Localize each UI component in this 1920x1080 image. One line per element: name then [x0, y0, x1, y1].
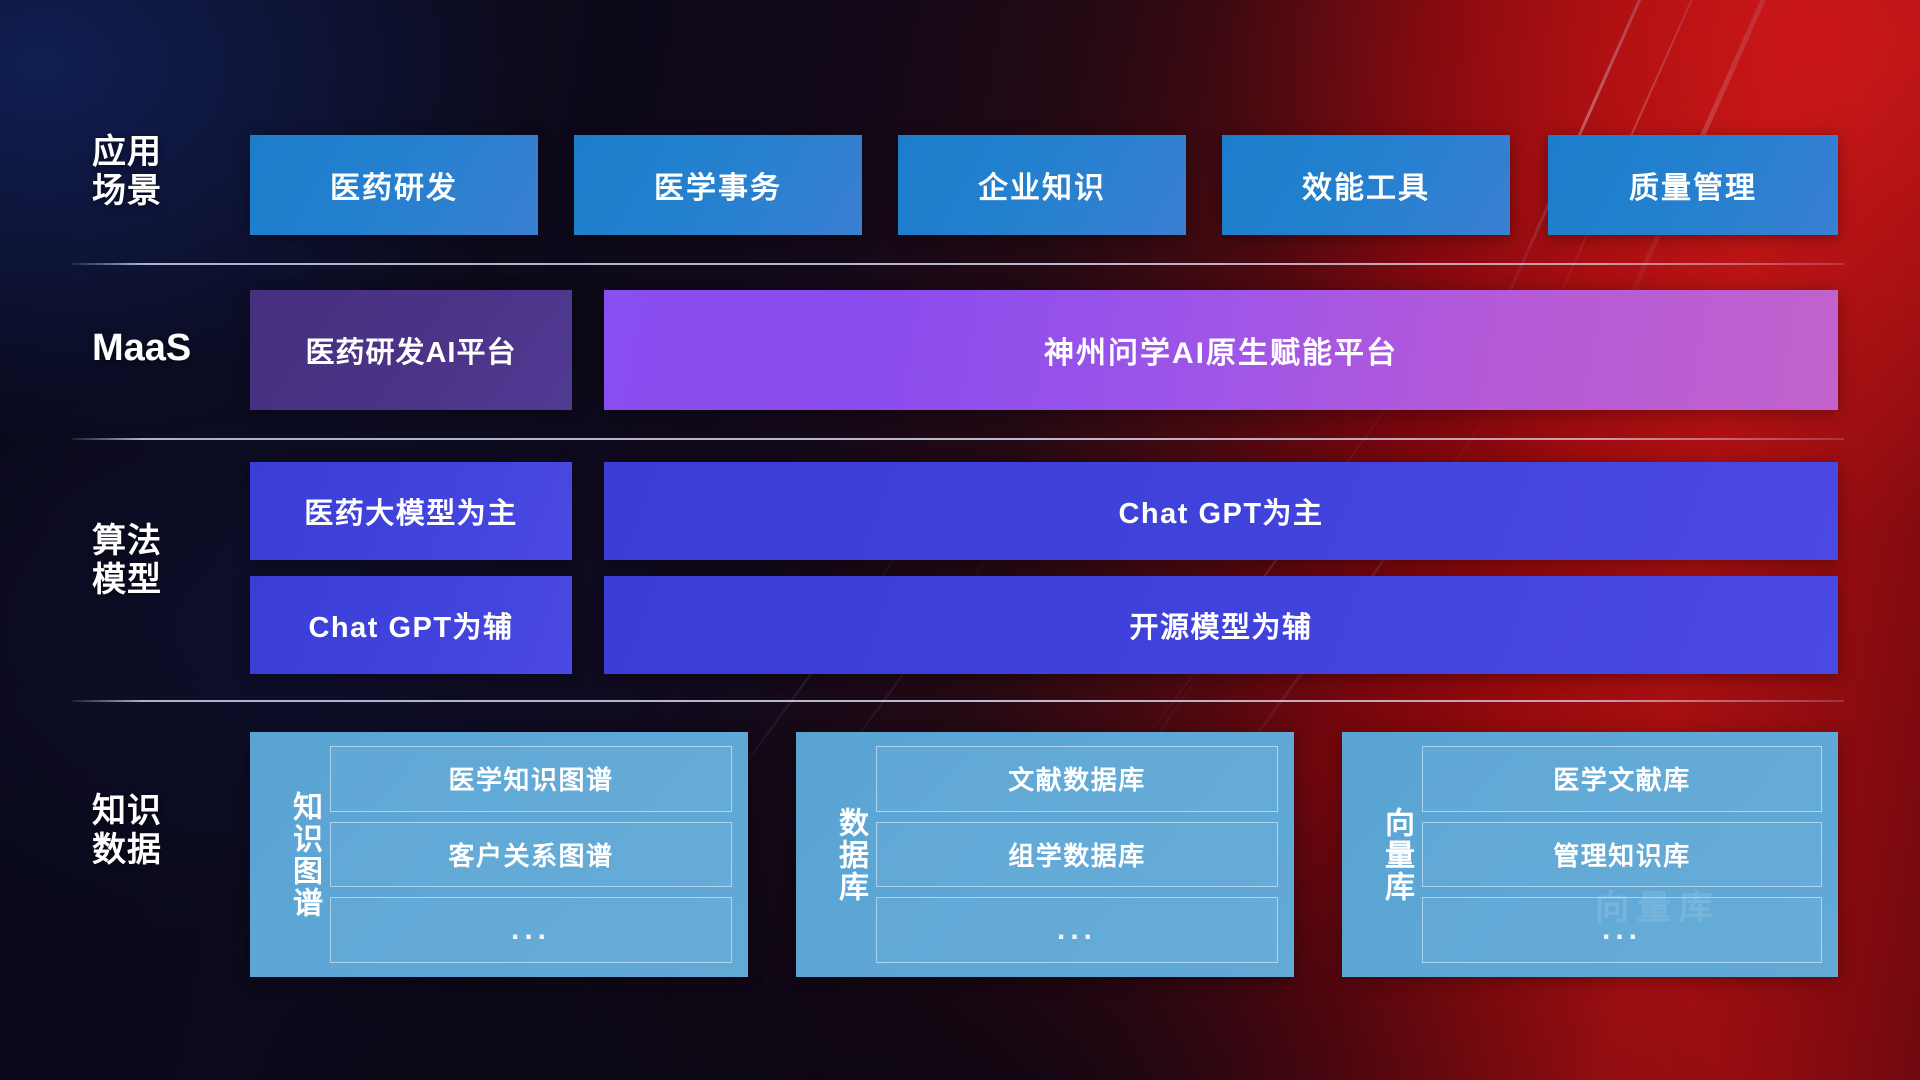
- divider-2: [72, 438, 1844, 440]
- knowledge-panel-vertical-label: 知识图谱: [268, 791, 320, 919]
- algo-box-medical-primary[interactable]: 医药大模型为主: [250, 462, 572, 560]
- maas-platform-label: 神州问学AI原生赋能平台: [1044, 328, 1398, 372]
- diagram-canvas: 应用 场景 医药研发 医学事务 企业知识 效能工具 质量管理 MaaS 医药研发…: [0, 0, 1920, 1080]
- knowledge-panel-item-list: 医学文献库 管理知识库 ...: [1422, 746, 1822, 963]
- maas-platform-label: 医药研发AI平台: [305, 329, 516, 371]
- knowledge-item-more[interactable]: ...: [330, 897, 732, 963]
- row-label-line: 模型: [92, 561, 252, 600]
- row-label-line: MaaS: [92, 326, 252, 370]
- maas-platform-box-shenzhou[interactable]: 神州问学AI原生赋能平台: [604, 290, 1838, 410]
- app-scenario-box-3[interactable]: 企业知识: [898, 135, 1186, 235]
- knowledge-item[interactable]: 客户关系图谱: [330, 822, 732, 888]
- divider-1: [72, 263, 1844, 265]
- knowledge-item-more[interactable]: ...: [1422, 897, 1822, 963]
- app-scenario-box-4[interactable]: 效能工具: [1222, 135, 1510, 235]
- algo-box-label: Chat GPT为主: [1118, 490, 1323, 532]
- app-scenario-label: 医药研发: [330, 163, 458, 207]
- algo-box-chatgpt-primary[interactable]: Chat GPT为主: [604, 462, 1838, 560]
- knowledge-item[interactable]: 管理知识库: [1422, 822, 1822, 888]
- knowledge-item-more[interactable]: ...: [876, 897, 1278, 963]
- app-scenario-label: 效能工具: [1302, 163, 1430, 207]
- row-label-algorithm-models: 算法 模型: [92, 522, 252, 601]
- knowledge-panel-knowledge-graph[interactable]: 知识图谱 医学知识图谱 客户关系图谱 ...: [250, 732, 748, 977]
- app-scenario-label: 质量管理: [1629, 163, 1757, 207]
- knowledge-panel-item-list: 医学知识图谱 客户关系图谱 ...: [330, 746, 732, 963]
- knowledge-panel-item-list: 文献数据库 组学数据库 ...: [876, 746, 1278, 963]
- knowledge-item[interactable]: 组学数据库: [876, 822, 1278, 888]
- knowledge-panel-database[interactable]: 数据库 文献数据库 组学数据库 ...: [796, 732, 1294, 977]
- divider-3: [72, 700, 1844, 702]
- knowledge-panel-vector-store[interactable]: 向量库 医学文献库 管理知识库 ...: [1342, 732, 1838, 977]
- algo-box-label: 开源模型为辅: [1129, 604, 1312, 646]
- app-scenario-label: 医学事务: [654, 163, 782, 207]
- knowledge-panel-vertical-label: 数据库: [814, 807, 866, 903]
- knowledge-item[interactable]: 医学知识图谱: [330, 746, 732, 812]
- app-scenario-box-2[interactable]: 医学事务: [574, 135, 862, 235]
- row-label-line: 应用: [92, 133, 252, 172]
- knowledge-panel-vertical-label: 向量库: [1360, 807, 1412, 903]
- row-label-application-scenarios: 应用 场景: [92, 133, 252, 212]
- maas-platform-box-medical[interactable]: 医药研发AI平台: [250, 290, 572, 410]
- row-label-line: 场景: [92, 172, 252, 211]
- row-label-line: 知识: [92, 792, 252, 831]
- algo-box-chatgpt-secondary[interactable]: Chat GPT为辅: [250, 576, 572, 674]
- app-scenario-box-5[interactable]: 质量管理: [1548, 135, 1838, 235]
- row-label-knowledge-data: 知识 数据: [92, 792, 252, 871]
- row-label-line: 算法: [92, 522, 252, 561]
- knowledge-item[interactable]: 文献数据库: [876, 746, 1278, 812]
- app-scenario-label: 企业知识: [978, 163, 1106, 207]
- knowledge-item[interactable]: 医学文献库: [1422, 746, 1822, 812]
- row-label-maas: MaaS: [92, 326, 252, 370]
- row-label-line: 数据: [92, 831, 252, 870]
- app-scenario-box-1[interactable]: 医药研发: [250, 135, 538, 235]
- algo-box-label: Chat GPT为辅: [308, 604, 513, 646]
- algo-box-label: 医药大模型为主: [304, 490, 518, 532]
- algo-box-opensource-secondary[interactable]: 开源模型为辅: [604, 576, 1838, 674]
